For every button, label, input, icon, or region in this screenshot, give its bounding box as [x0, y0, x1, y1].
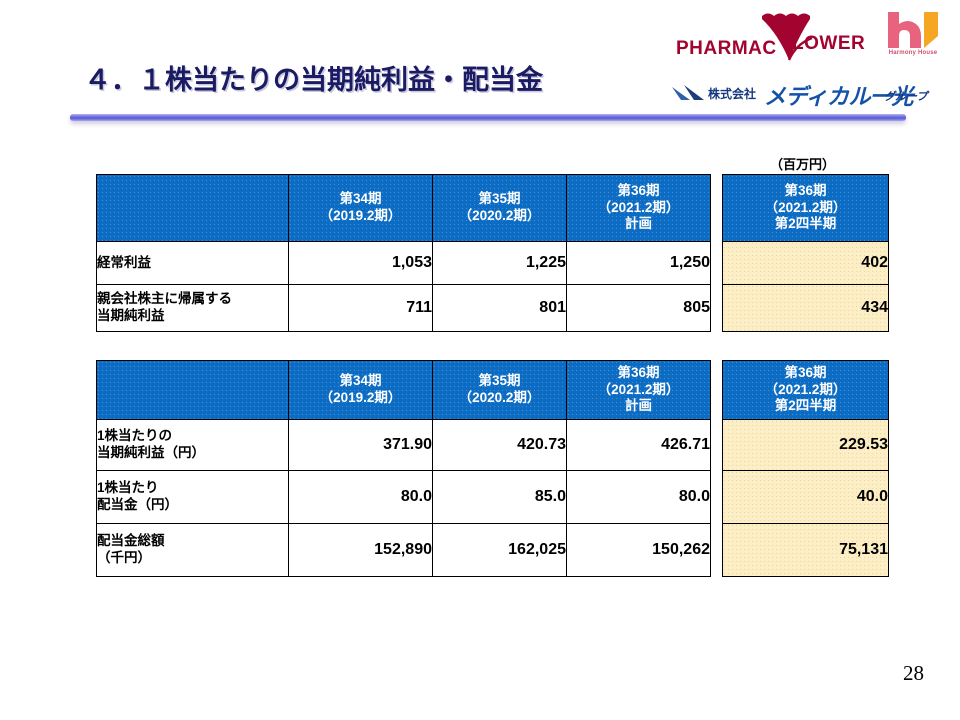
- table-row: 1株当たりの 当期純利益（円） 371.90 420.73 426.71: [97, 420, 711, 471]
- arrow-swoosh-icon: [672, 84, 706, 104]
- profit-q2-row1: 434: [723, 285, 889, 332]
- table-row: 40.0: [723, 471, 889, 524]
- title-divider: [70, 114, 906, 121]
- profit-row0-col2: 1,250: [567, 242, 711, 285]
- profit-q2-header: 第36期 （2021.2期） 第2四半期: [723, 175, 889, 242]
- medical-ikko-logo: 株式会社 メディカル一光 グループ: [672, 78, 930, 106]
- per-share-q2-header: 第36期 （2021.2期） 第2四半期: [723, 361, 889, 420]
- per-share-table: 第34期 （2019.2期） 第35期 （2020.2期） 第36期 （2021…: [96, 360, 711, 577]
- table-header-row: 第34期 （2019.2期） 第35期 （2020.2期） 第36期 （2021…: [97, 175, 711, 242]
- harmony-house-h-icon: [876, 10, 950, 50]
- unit-note: （百万円）: [770, 154, 835, 173]
- per-share-row1-label: 1株当たり 配当金（円）: [97, 471, 289, 524]
- table-header-row: 第36期 （2021.2期） 第2四半期: [723, 361, 889, 420]
- page-title: ４．１株当たりの当期純利益・配当金: [84, 58, 543, 97]
- per-share-header-term35: 第35期 （2020.2期）: [433, 361, 567, 420]
- profit-header-term36: 第36期 （2021.2期） 計画: [567, 175, 711, 242]
- profit-row1-col0: 711: [289, 285, 433, 332]
- table-row: 434: [723, 285, 889, 332]
- per-share-row2-col0: 152,890: [289, 524, 433, 577]
- per-share-row1-col0: 80.0: [289, 471, 433, 524]
- profit-header-term34: 第34期 （2019.2期）: [289, 175, 433, 242]
- profit-header-blank: [97, 175, 289, 242]
- per-share-q2-row1: 40.0: [723, 471, 889, 524]
- profit-q2-row0: 402: [723, 242, 889, 285]
- per-share-header-blank: [97, 361, 289, 420]
- pharmacy-flower-logo: PHARMAC LOWER: [676, 12, 866, 62]
- profit-table: 第34期 （2019.2期） 第35期 （2020.2期） 第36期 （2021…: [96, 174, 711, 332]
- per-share-row2-col2: 150,262: [567, 524, 711, 577]
- per-share-row0-col2: 426.71: [567, 420, 711, 471]
- medical-ikko-suffix: グループ: [884, 88, 927, 104]
- harmony-house-caption: Harmony House: [876, 50, 950, 56]
- per-share-row0-col0: 371.90: [289, 420, 433, 471]
- per-share-header-term34: 第34期 （2019.2期）: [289, 361, 433, 420]
- per-share-header-term36: 第36期 （2021.2期） 計画: [567, 361, 711, 420]
- table-row: 402: [723, 242, 889, 285]
- profit-table-q2: 第36期 （2021.2期） 第2四半期 402 434: [722, 174, 889, 332]
- per-share-row1-col2: 80.0: [567, 471, 711, 524]
- per-share-row0-col1: 420.73: [433, 420, 567, 471]
- per-share-row2-col1: 162,025: [433, 524, 567, 577]
- profit-row0-label: 経常利益: [97, 242, 289, 285]
- medical-ikko-prefix: 株式会社: [708, 85, 756, 102]
- per-share-row0-label: 1株当たりの 当期純利益（円）: [97, 420, 289, 471]
- profit-row0-col0: 1,053: [289, 242, 433, 285]
- per-share-row1-col1: 85.0: [433, 471, 567, 524]
- per-share-row2-label: 配当金総額 （千円）: [97, 524, 289, 577]
- table-row: 配当金総額 （千円） 152,890 162,025 150,262: [97, 524, 711, 577]
- per-share-q2-row0: 229.53: [723, 420, 889, 471]
- profit-header-term35: 第35期 （2020.2期）: [433, 175, 567, 242]
- table-row: 1株当たり 配当金（円） 80.0 85.0 80.0: [97, 471, 711, 524]
- table-row: 75,131: [723, 524, 889, 577]
- table-header-row: 第34期 （2019.2期） 第35期 （2020.2期） 第36期 （2021…: [97, 361, 711, 420]
- profit-row0-col1: 1,225: [433, 242, 567, 285]
- per-share-table-q2: 第36期 （2021.2期） 第2四半期 229.53 40.0 75,131: [722, 360, 889, 577]
- table-row: 229.53: [723, 420, 889, 471]
- profit-row1-col2: 805: [567, 285, 711, 332]
- table-row: 親会社株主に帰属する 当期純利益 711 801 805: [97, 285, 711, 332]
- profit-row1-label: 親会社株主に帰属する 当期純利益: [97, 285, 289, 332]
- table-header-row: 第36期 （2021.2期） 第2四半期: [723, 175, 889, 242]
- profit-row1-col1: 801: [433, 285, 567, 332]
- pharmacy-flower-text-right: LOWER: [792, 33, 865, 55]
- table-row: 経常利益 1,053 1,225 1,250: [97, 242, 711, 285]
- harmony-house-logo: Harmony House: [876, 10, 950, 62]
- page-number: 28: [903, 661, 924, 686]
- per-share-q2-row2: 75,131: [723, 524, 889, 577]
